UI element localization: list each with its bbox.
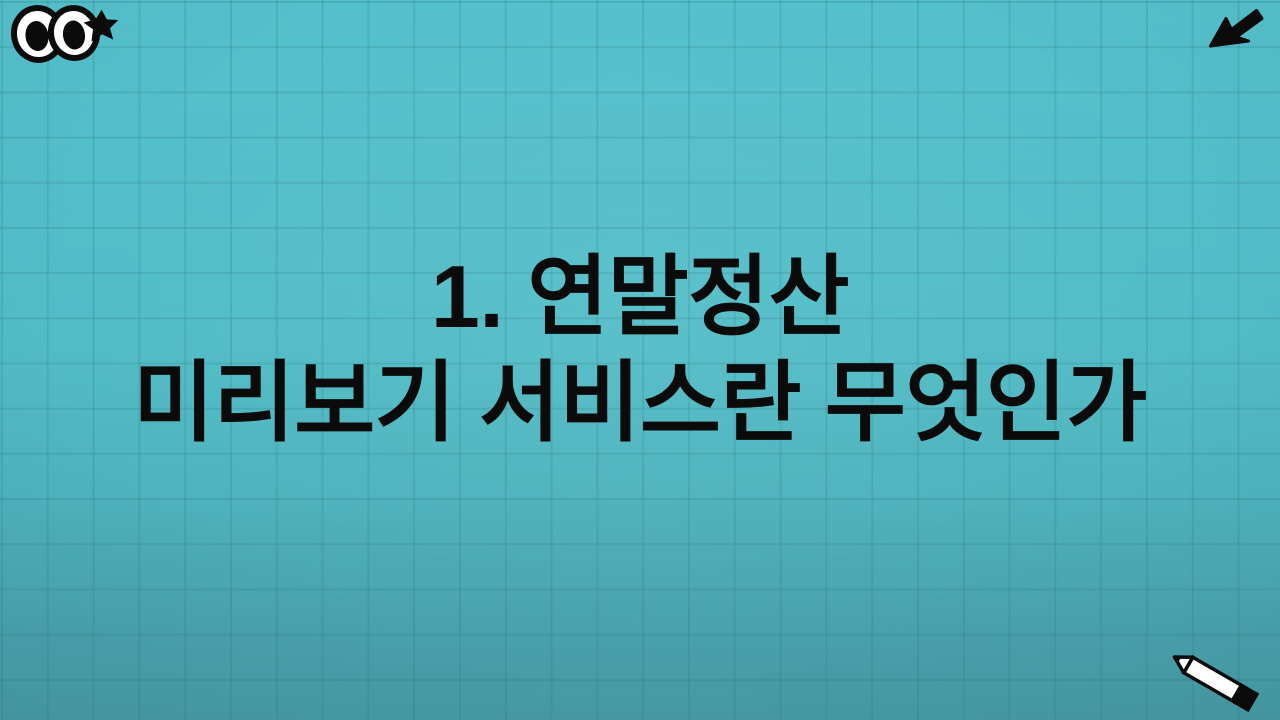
slide-canvas: 1. 연말정산 미리보기 서비스란 무엇인가: [0, 0, 1280, 720]
pencil-icon: [1164, 648, 1268, 714]
page-title: 1. 연말정산 미리보기 서비스란 무엇인가: [0, 244, 1280, 457]
star-icon: [82, 8, 120, 46]
arrow-cursor-icon: [1206, 4, 1268, 52]
